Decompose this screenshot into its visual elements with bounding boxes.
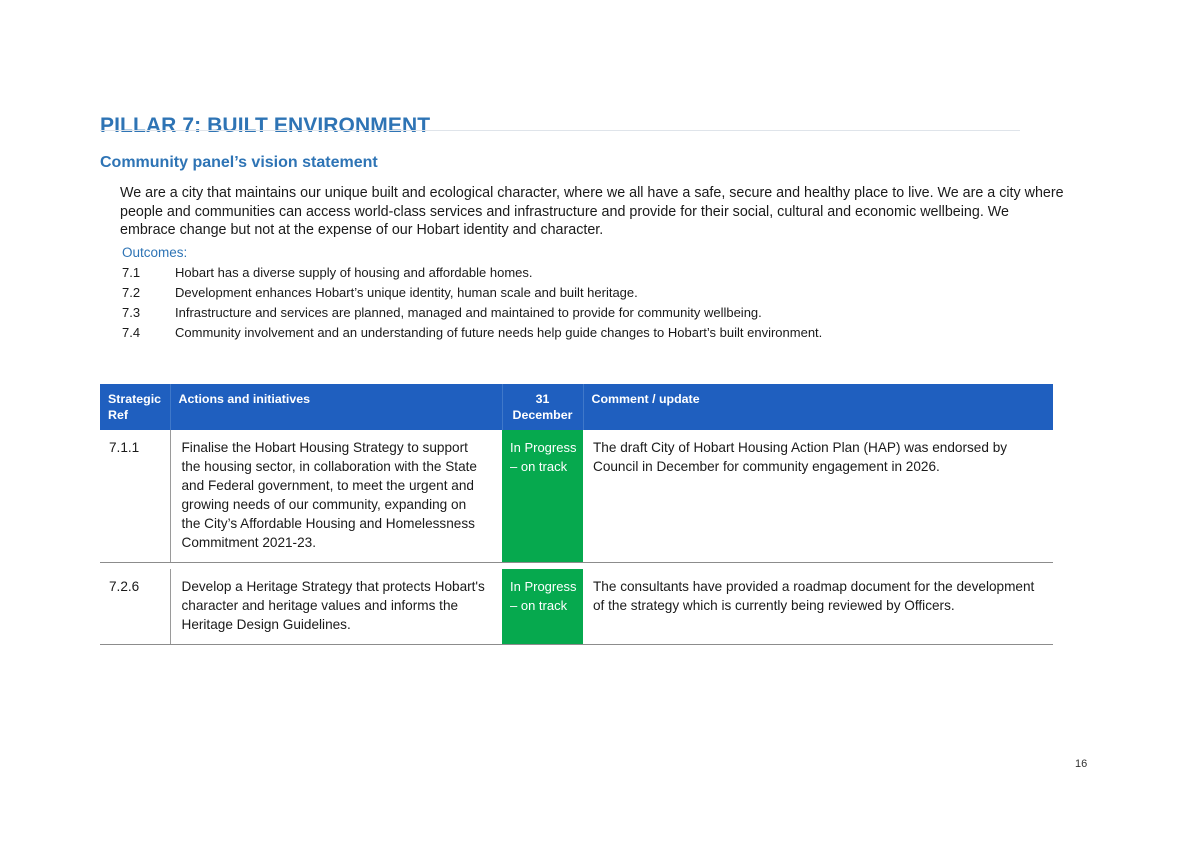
- list-item: 7.2 Development enhances Hobart’s unique…: [122, 283, 1062, 303]
- outcomes-label: Outcomes:: [122, 244, 187, 262]
- outcome-ref: 7.3: [122, 303, 175, 323]
- column-header-actions: Actions and initiatives: [170, 384, 502, 430]
- outcome-text: Community involvement and an understandi…: [175, 323, 1062, 343]
- cell-strategic-ref: 7.1.1: [100, 430, 170, 563]
- document-page: PILLAR 7: BUILT ENVIRONMENT Community pa…: [0, 0, 1189, 841]
- list-item: 7.1 Hobart has a diverse supply of housi…: [122, 263, 1062, 283]
- list-item: 7.3 Infrastructure and services are plan…: [122, 303, 1062, 323]
- page-number: 16: [1075, 757, 1087, 771]
- strategic-actions-table: Strategic Ref Actions and initiatives 31…: [100, 384, 1053, 645]
- outcome-text: Development enhances Hobart’s unique ide…: [175, 283, 1062, 303]
- cell-action: Finalise the Hobart Housing Strategy to …: [170, 430, 502, 563]
- cell-action: Develop a Heritage Strategy that protect…: [170, 569, 502, 645]
- cell-comment: The draft City of Hobart Housing Action …: [583, 430, 1053, 563]
- column-header-comment: Comment / update: [583, 384, 1053, 430]
- table-row: 7.1.1 Finalise the Hobart Housing Strate…: [100, 430, 1053, 563]
- status-badge: In Progress – on track: [502, 430, 583, 563]
- vision-statement-text: We are a city that maintains our unique …: [120, 184, 1068, 239]
- outcomes-list: 7.1 Hobart has a diverse supply of housi…: [122, 263, 1062, 343]
- cell-strategic-ref: 7.2.6: [100, 569, 170, 645]
- vision-statement-heading: Community panel’s vision statement: [100, 152, 378, 174]
- table-row: 7.2.6 Develop a Heritage Strategy that p…: [100, 569, 1053, 645]
- outcome-ref: 7.1: [122, 263, 175, 283]
- outcome-text: Hobart has a diverse supply of housing a…: [175, 263, 1062, 283]
- cell-comment: The consultants have provided a roadmap …: [583, 569, 1053, 645]
- status-badge: In Progress – on track: [502, 569, 583, 645]
- column-header-strategic-ref: Strategic Ref: [100, 384, 170, 430]
- outcome-ref: 7.4: [122, 323, 175, 343]
- title-divider: [100, 130, 1020, 131]
- table-header-row: Strategic Ref Actions and initiatives 31…: [100, 384, 1053, 430]
- column-header-date: 31 December: [502, 384, 583, 430]
- outcome-ref: 7.2: [122, 283, 175, 303]
- page-title: PILLAR 7: BUILT ENVIRONMENT: [100, 113, 430, 139]
- outcome-text: Infrastructure and services are planned,…: [175, 303, 1062, 323]
- list-item: 7.4 Community involvement and an underst…: [122, 323, 1062, 343]
